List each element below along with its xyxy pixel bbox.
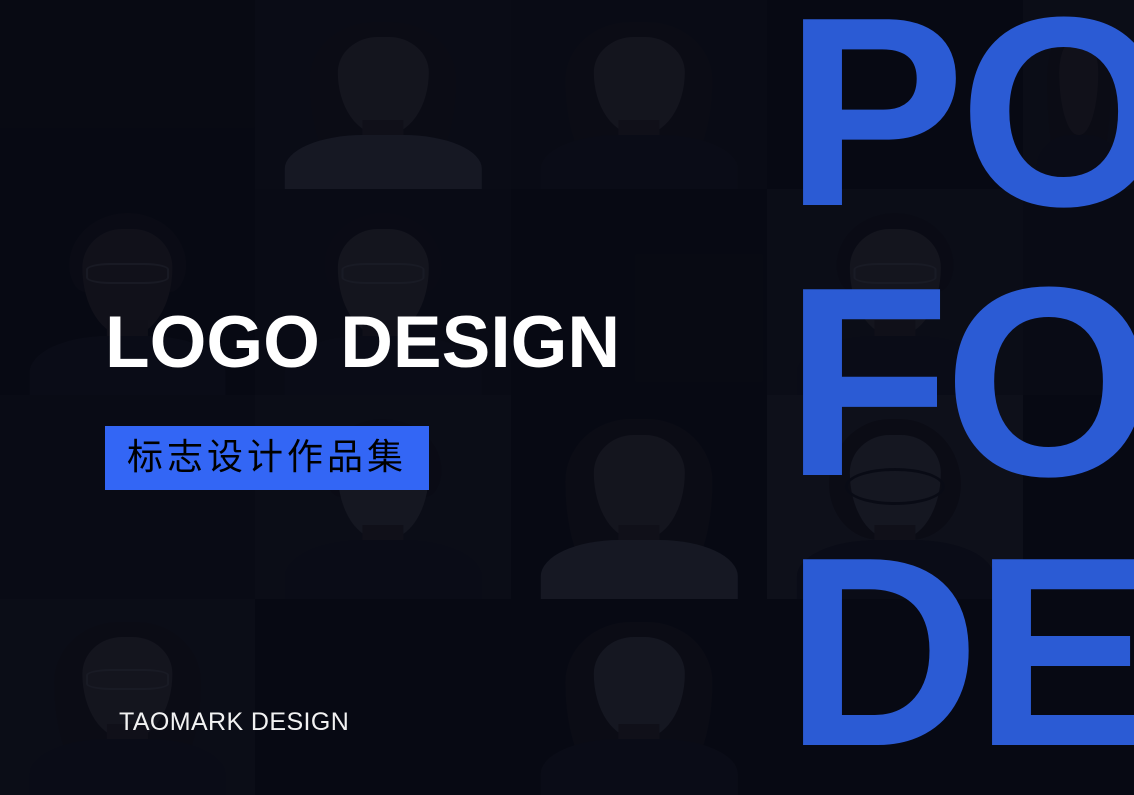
- portrait-woman-glasses-bob: [33, 607, 222, 795]
- torso-shape: [29, 739, 225, 795]
- photo-cell: [1023, 189, 1134, 395]
- photo-cell: [255, 599, 511, 795]
- glasses-icon: [341, 263, 425, 285]
- photo-cell: [511, 189, 767, 395]
- torso-shape: [541, 739, 738, 795]
- torso-shape: [1036, 135, 1121, 189]
- portfolio-cover-poster: PO FO DE LOGO DESIGN 标志设计作品集 TAOMARK DES…: [0, 0, 1134, 795]
- portrait-man-glasses-suit: [33, 197, 222, 395]
- portrait-man-short-hair-hand: [288, 403, 477, 599]
- photo-cell: [767, 189, 1023, 395]
- photo-cell: [767, 395, 1023, 599]
- torso-shape: [541, 135, 738, 189]
- portrait-man-glasses-suit: [288, 197, 477, 395]
- portrait-woman-smiling-dark-top: [544, 8, 733, 189]
- torso-shape: [285, 540, 482, 599]
- torso-shape: [29, 336, 225, 395]
- torso-shape: [541, 540, 738, 599]
- portrait-photo-grid: [0, 0, 1134, 795]
- glasses-icon: [86, 263, 169, 285]
- brand-name: TAOMARK DESIGN: [119, 708, 349, 737]
- photo-cell: [255, 0, 511, 189]
- photo-cell: [1023, 395, 1134, 599]
- photo-cell: [767, 599, 1023, 795]
- portrait-woman-long-hair-looking-down: [544, 607, 733, 795]
- portrait-woman-partial-edge: [1037, 8, 1119, 189]
- photo-cell: [511, 599, 767, 795]
- photo-cell: [767, 0, 1023, 189]
- photo-cell: [511, 395, 767, 599]
- torso-shape: [285, 336, 482, 395]
- photo-cell: [0, 395, 255, 599]
- portrait-man-glasses-suit: [800, 197, 989, 395]
- photo-cell: [0, 189, 255, 395]
- photo-cell: [255, 395, 511, 599]
- portrait-woman-light-blue-shirt: [544, 403, 733, 599]
- photo-cell: [0, 0, 255, 189]
- torso-shape: [797, 540, 994, 599]
- photo-cell: [1023, 0, 1134, 189]
- glasses-icon: [853, 263, 937, 285]
- round-glasses-icon: [845, 468, 946, 505]
- photo-cell: [255, 189, 511, 395]
- photo-cell: [511, 0, 767, 189]
- portrait-person-round-glasses-bw: [800, 403, 989, 599]
- portrait-woman-long-hair-white-shirt: [288, 8, 477, 189]
- glasses-icon: [86, 669, 169, 690]
- photo-cell: [0, 599, 255, 795]
- torso-shape: [797, 336, 994, 395]
- torso-shape: [285, 135, 482, 189]
- photo-cell: [1023, 599, 1134, 795]
